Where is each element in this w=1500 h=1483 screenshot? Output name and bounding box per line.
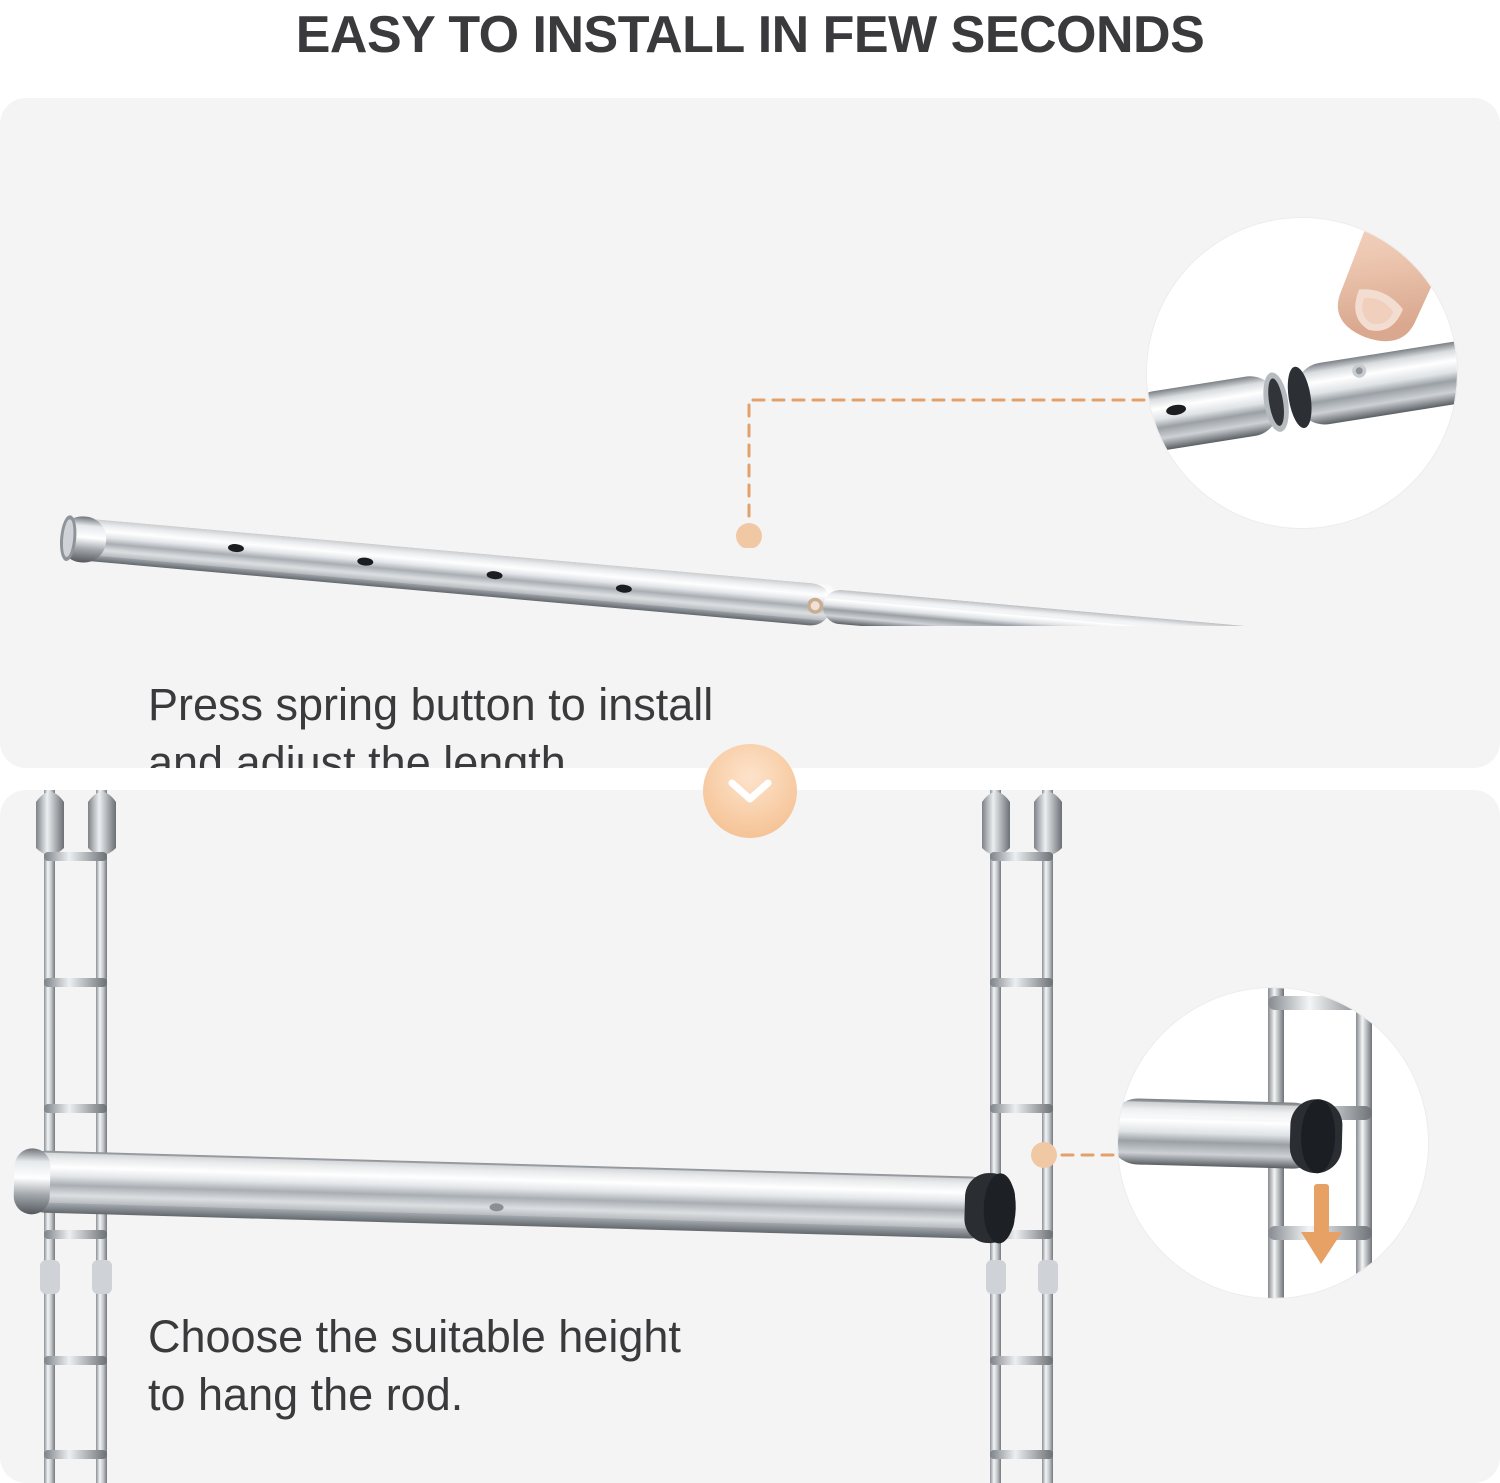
chevron-down-icon — [703, 744, 797, 838]
closet-rod-installed — [13, 1146, 1017, 1244]
inset-finger-pressing-button — [1147, 218, 1457, 528]
callout-line-spring-button — [735, 378, 1155, 548]
telescoping-closet-rod — [55, 476, 1395, 626]
page-title: EASY TO INSTALL IN FEW SECONDS — [0, 0, 1500, 70]
inset-rod-end-on-upright — [1118, 988, 1428, 1298]
panel-install-step-2: Choose the suitable height to hang the r… — [0, 790, 1500, 1483]
panel-install-step-1: Press spring button to install and adjus… — [0, 98, 1500, 768]
caption-step-1: Press spring button to install and adjus… — [148, 676, 713, 768]
caption-step-2: Choose the suitable height to hang the r… — [148, 1308, 681, 1423]
